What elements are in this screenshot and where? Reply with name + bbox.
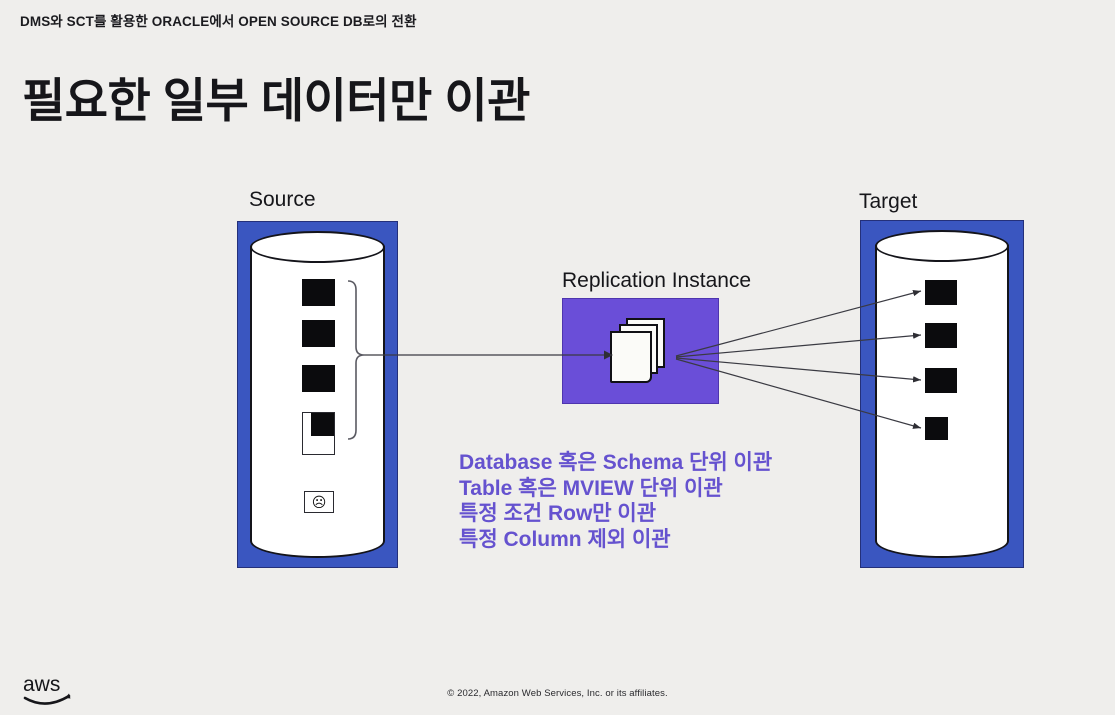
replication-instance-label: Replication Instance [562,269,751,293]
table-block-1 [302,279,335,306]
cylinder-top-ellipse [250,231,385,263]
migration-options-list: Database 혹은 Schema 단위 이관 Table 혹은 MVIEW … [459,450,772,552]
cylinder-bottom-mask [877,519,1007,541]
target-block-3 [925,368,957,393]
table-block-3 [302,365,335,392]
slide-canvas: DMS와 SCT를 활용한 ORACLE에서 OPEN SOURCE DB로의 … [0,0,1115,715]
cylinder-top-ellipse [875,230,1009,262]
excluded-table-box: ☹ [304,491,334,513]
document-icon-front [610,331,652,383]
target-block-2 [925,323,957,348]
partial-fill-region [311,413,334,436]
source-label: Source [249,188,316,212]
target-label: Target [859,190,917,214]
page-title: 필요한 일부 데이터만 이관 [22,62,530,131]
copyright-text: © 2022, Amazon Web Services, Inc. or its… [0,688,1115,699]
list-item: 특정 Column 제외 이관 [459,527,772,553]
list-item: Table 혹은 MVIEW 단위 이관 [459,476,772,502]
list-item: Database 혹은 Schema 단위 이관 [459,450,772,476]
list-item: 특정 조건 Row만 이관 [459,501,772,527]
target-block-1 [925,280,957,305]
slide-eyebrow: DMS와 SCT를 활용한 ORACLE에서 OPEN SOURCE DB로의 … [20,10,417,30]
table-block-4-partial [302,412,335,455]
cylinder-bottom-mask [252,519,383,541]
target-block-4 [925,417,948,440]
table-block-2 [302,320,335,347]
sad-face-icon: ☹ [312,495,327,509]
